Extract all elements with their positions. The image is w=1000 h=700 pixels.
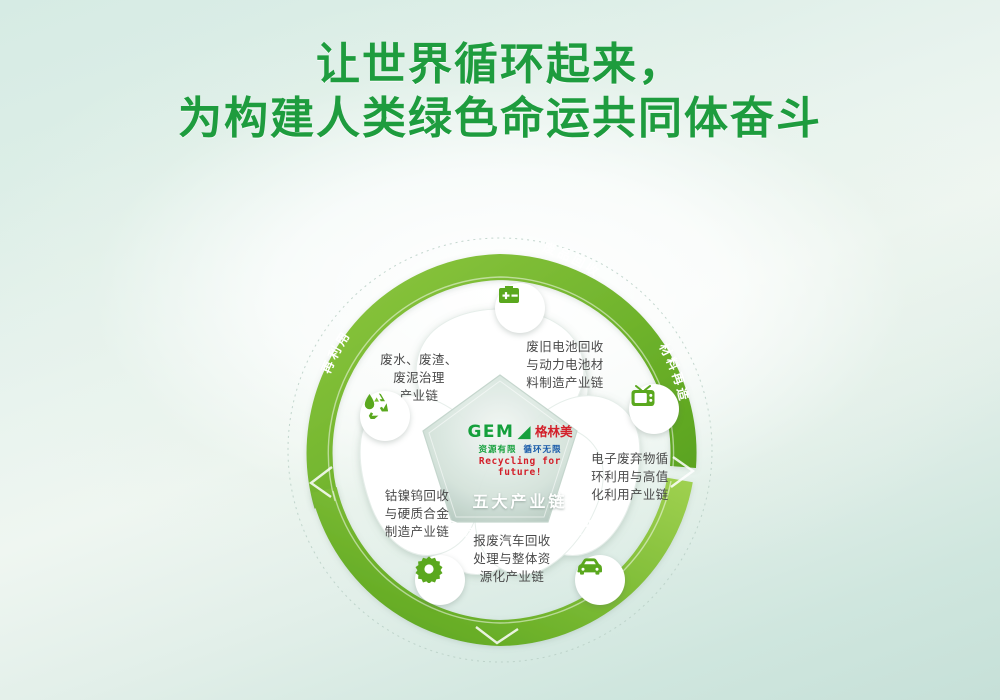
battery-icon — [495, 283, 545, 333]
recycle-drop-icon-glyph — [360, 391, 390, 419]
gem-slogan-english: Recycling for future! — [455, 456, 585, 478]
tv-icon — [629, 384, 679, 434]
gem-logo-latin: GEM — [467, 424, 514, 441]
battery-icon-glyph — [495, 283, 523, 307]
gem-slogan-right: 循环无限 — [524, 443, 562, 455]
gem-slogan: 资源有限 循环无限 — [455, 443, 585, 455]
page-title-line-2: 为构建人类绿色命运共同体奋斗 — [0, 92, 1000, 146]
gear-icon-glyph — [415, 555, 443, 583]
petal-label-battery: 废旧电池回收 与动力电池材 料制造产业链 — [511, 338, 619, 392]
center-subtitle: 五大产业链 — [455, 488, 585, 512]
recycle-drop-icon — [360, 391, 410, 441]
gem-logo-mark: ◢ — [517, 424, 532, 441]
petal-label-auto: 报废汽车回收 处理与整体资 源化产业链 — [460, 532, 564, 586]
cycle-diagram: 废品回收 材料再造 金属材料再造 绿色循环产品 再利用 废旧电池回收 与动力电池… — [275, 205, 725, 675]
gem-logo: GEM ◢ 格林美 资源有限 循环无限 Recycling for future… — [455, 423, 585, 478]
page-title: 让世界循环起来， 为构建人类绿色命运共同体奋斗 — [0, 38, 1000, 145]
page-title-line-1: 让世界循环起来， — [0, 38, 1000, 92]
tv-icon-glyph — [629, 384, 657, 410]
car-icon-glyph — [575, 555, 605, 577]
gem-slogan-left: 资源有限 — [478, 443, 516, 455]
gem-logo-chinese: 格林美 — [535, 426, 573, 439]
petal-label-ewaste: 电子废弃物循 环利用与高值 化利用产业链 — [581, 450, 679, 504]
gem-logo-row: GEM ◢ 格林美 — [455, 423, 585, 441]
gear-icon — [415, 555, 465, 605]
car-icon — [575, 555, 625, 605]
petal-label-cobalt: 钴镍钨回收 与硬质合金 制造产业链 — [365, 487, 469, 541]
